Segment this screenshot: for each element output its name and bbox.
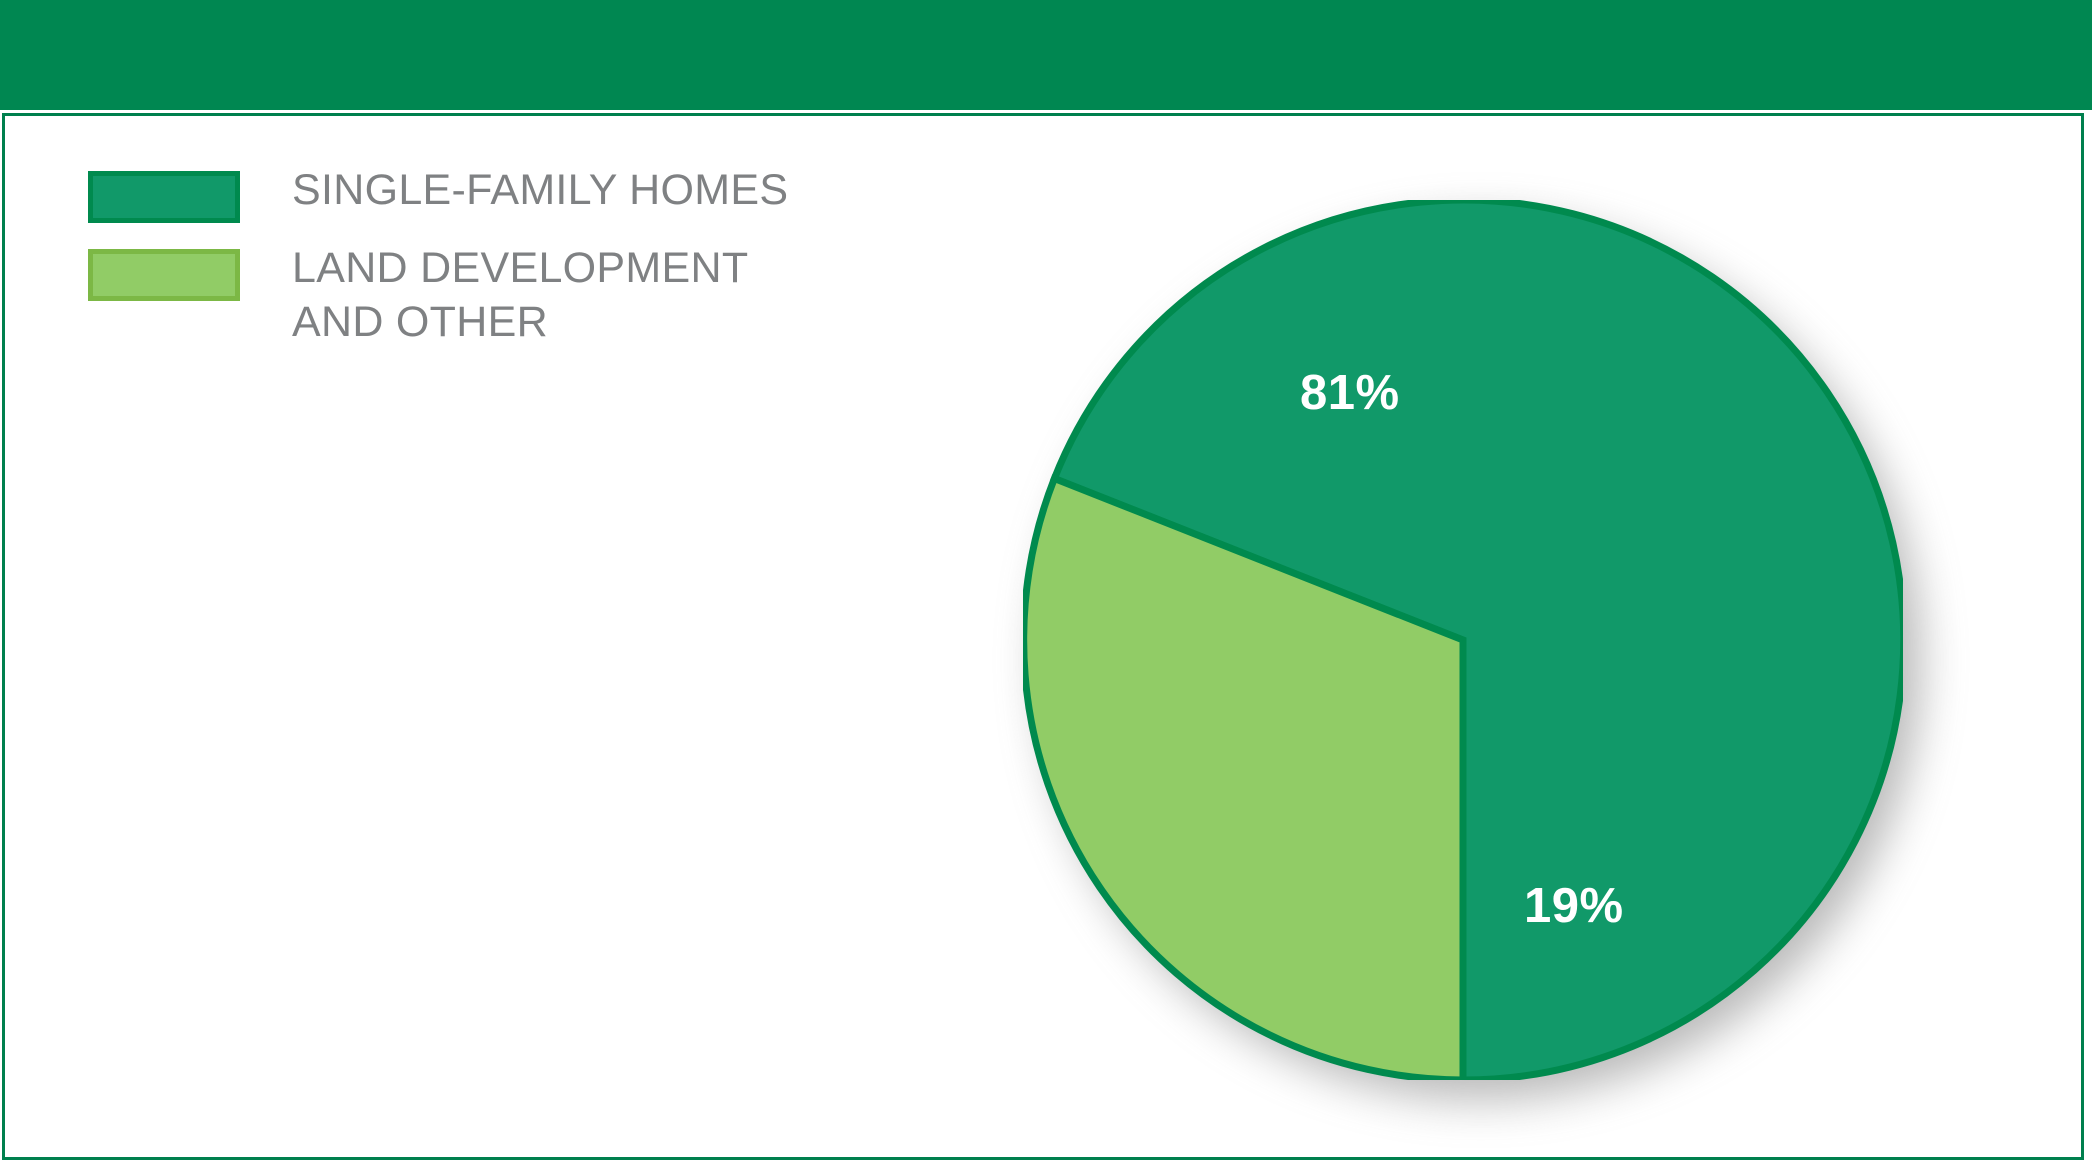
legend-label-single-family-homes: SINGLE-FAMILY HOMES — [292, 163, 788, 217]
pie-value-label-single-family-homes: 81% — [1300, 365, 1400, 421]
pie-value-label-land-development-and-other: 19% — [1524, 878, 1624, 934]
pie-chart-svg — [1023, 200, 1903, 1080]
legend-item-land-development-and-other[interactable]: LAND DEVELOPMENT AND OTHER — [88, 241, 848, 349]
legend-item-single-family-homes[interactable]: SINGLE-FAMILY HOMES — [88, 163, 848, 223]
legend-swatch-icon-single-family-homes — [88, 171, 240, 223]
legend-swatch-icon-land-development-and-other — [88, 249, 240, 301]
header-band — [0, 0, 2092, 110]
pie-chart: 81% 19% — [1023, 200, 1903, 1080]
chart-legend: SINGLE-FAMILY HOMES LAND DEVELOPMENT AND… — [88, 163, 848, 367]
legend-label-land-development-and-other: LAND DEVELOPMENT AND OTHER — [292, 241, 748, 349]
slide-canvas: SINGLE-FAMILY HOMES LAND DEVELOPMENT AND… — [0, 0, 2092, 1170]
